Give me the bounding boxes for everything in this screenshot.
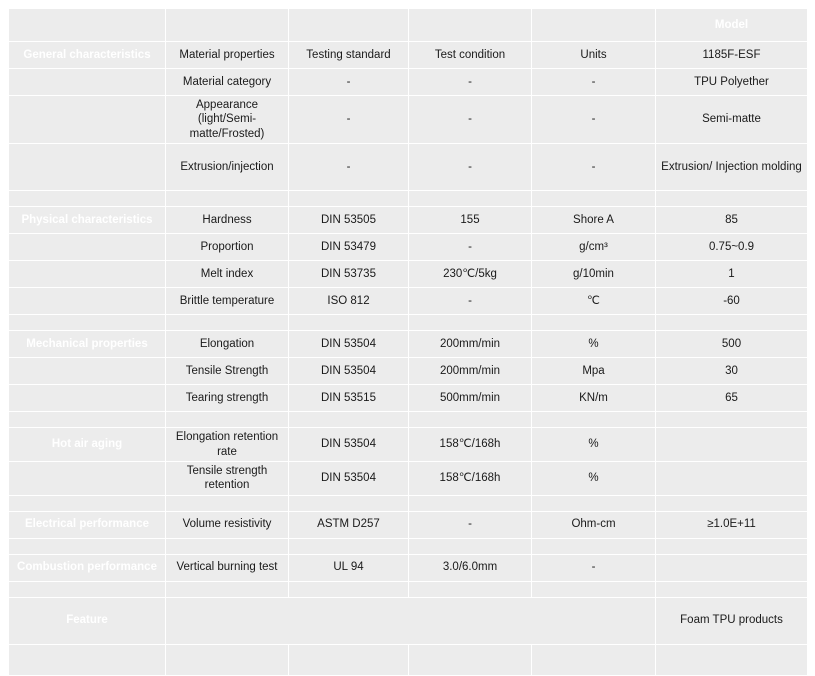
section-spacer-cell [9,144,165,190]
testing-standard: DIN 53515 [289,385,408,411]
column-header-material-properties: Material properties [166,42,288,68]
table-row: Combustion performance Vertical burning … [9,555,807,581]
model-value: 0.75~0.9 [656,234,807,260]
model-value-1185f-esf: 1185F-ESF [656,42,807,68]
model-value: 1 [656,261,807,287]
table-row: Melt index DIN 53735 230℃/5kg g/10min 1 [9,261,807,287]
test-condition: 230℃/5kg [409,261,531,287]
test-condition: 200mm/min [409,331,531,357]
units: - [532,69,655,95]
testing-standard: - [289,69,408,95]
blank-cell [9,9,165,41]
bottom-filler-row [9,645,807,675]
test-condition: 158℃/168h [409,462,531,495]
gap-cell [409,582,531,597]
table-row: Hot air aging Elongation retention rate … [9,428,807,461]
model-value [656,462,807,495]
gap-cell [409,412,531,427]
test-condition: - [409,144,531,190]
test-condition: - [409,512,531,538]
gap-cell [656,582,807,597]
property-name: Appearance (light/Semi-matte/Frosted) [166,96,288,143]
table-row: Proportion DIN 53479 - g/cm³ 0.75~0.9 [9,234,807,260]
units: % [532,462,655,495]
gap-cell [532,582,655,597]
model-column-header: Model [656,9,807,41]
gap-cell [532,539,655,554]
gap-cell [289,191,408,206]
gap-cell [656,496,807,511]
gap-cell [656,412,807,427]
gap-cell [289,412,408,427]
model-header-row: Model [9,9,807,41]
section-spacer-cell [9,234,165,260]
section-header-mechanical-properties: Mechanical properties [9,331,165,357]
test-condition: 200mm/min [409,358,531,384]
gap-cell [289,315,408,330]
gap-cell [656,315,807,330]
blank-cell [289,645,408,675]
gap-cell [409,315,531,330]
feature-empty-cell [166,598,655,644]
property-name: Tensile Strength [166,358,288,384]
model-value: 30 [656,358,807,384]
units: KN/m [532,385,655,411]
test-condition: 155 [409,207,531,233]
gap-cell [532,496,655,511]
gap-cell [409,496,531,511]
testing-standard: DIN 53505 [289,207,408,233]
section-spacer-cell [9,288,165,314]
table-row: Extrusion/injection - - - Extrusion/ Inj… [9,144,807,190]
gap-cell [9,496,165,511]
blank-cell [409,645,531,675]
units: - [532,555,655,581]
table-row: Mechanical properties Elongation DIN 535… [9,331,807,357]
testing-standard: ASTM D257 [289,512,408,538]
model-value: 500 [656,331,807,357]
test-condition: - [409,288,531,314]
property-name: Tearing strength [166,385,288,411]
section-header-feature: Feature [9,598,165,644]
section-header-combustion-performance: Combustion performance [9,555,165,581]
blank-cell [532,645,655,675]
testing-standard: - [289,144,408,190]
testing-standard: DIN 53735 [289,261,408,287]
column-header-row: General characteristics Material propert… [9,42,807,68]
units: % [532,428,655,461]
test-condition: 500mm/min [409,385,531,411]
gap-cell [656,539,807,554]
material-spec-table: Model General characteristics Material p… [8,8,808,676]
units: - [532,96,655,143]
gap-cell [9,315,165,330]
model-value: 85 [656,207,807,233]
feature-row: Feature Foam TPU products [9,598,807,644]
test-condition: - [409,69,531,95]
section-header-general-characteristics: General characteristics [9,42,165,68]
gap-cell [656,191,807,206]
section-header-physical-characteristics: Physical characteristics [9,207,165,233]
testing-standard: - [289,96,408,143]
model-value [656,555,807,581]
table-row: Tensile strength retention DIN 53504 158… [9,462,807,495]
test-condition: 158℃/168h [409,428,531,461]
gap-cell [9,412,165,427]
spec-sheet: Model General characteristics Material p… [0,0,815,646]
units: Ohm-cm [532,512,655,538]
gap-cell [9,582,165,597]
units: Mpa [532,358,655,384]
model-value: ≥1.0E+11 [656,512,807,538]
column-header-testing-standard: Testing standard [289,42,408,68]
section-gap [9,496,807,511]
property-name: Elongation retention rate [166,428,288,461]
gap-cell [289,539,408,554]
model-value [656,428,807,461]
gap-cell [532,191,655,206]
units: g/cm³ [532,234,655,260]
testing-standard: DIN 53479 [289,234,408,260]
section-gap [9,191,807,206]
blank-cell [656,645,807,675]
table-row: Tearing strength DIN 53515 500mm/min KN/… [9,385,807,411]
section-gap [9,315,807,330]
units: Shore A [532,207,655,233]
gap-cell [166,412,288,427]
column-header-units: Units [532,42,655,68]
section-gap [9,582,807,597]
property-name: Proportion [166,234,288,260]
table-row: Material category - - - TPU Polyether [9,69,807,95]
testing-standard: DIN 53504 [289,331,408,357]
blank-cell [532,9,655,41]
model-value: TPU Polyether [656,69,807,95]
property-name: Tensile strength retention [166,462,288,495]
gap-cell [9,539,165,554]
blank-cell [289,9,408,41]
gap-cell [166,191,288,206]
property-name: Volume resistivity [166,512,288,538]
gap-cell [409,539,531,554]
gap-cell [532,412,655,427]
table-row: Appearance (light/Semi-matte/Frosted) - … [9,96,807,143]
gap-cell [409,191,531,206]
model-value: Semi-matte [656,96,807,143]
gap-cell [289,582,408,597]
gap-cell [9,191,165,206]
property-name: Brittle temperature [166,288,288,314]
units: ℃ [532,288,655,314]
blank-cell [409,9,531,41]
section-spacer-cell [9,462,165,495]
table-row: Tensile Strength DIN 53504 200mm/min Mpa… [9,358,807,384]
test-condition: - [409,234,531,260]
testing-standard: DIN 53504 [289,358,408,384]
model-value: -60 [656,288,807,314]
gap-cell [166,539,288,554]
section-spacer-cell [9,261,165,287]
property-name: Extrusion/injection [166,144,288,190]
gap-cell [166,582,288,597]
testing-standard: DIN 53504 [289,462,408,495]
section-header-electrical-performance: Electrical performance [9,512,165,538]
table-row: Physical characteristics Hardness DIN 53… [9,207,807,233]
blank-cell [9,645,165,675]
property-name: Vertical burning test [166,555,288,581]
section-header-hot-air-aging: Hot air aging [9,428,165,461]
gap-cell [289,496,408,511]
section-spacer-cell [9,96,165,143]
model-value: 65 [656,385,807,411]
gap-cell [166,496,288,511]
section-gap [9,539,807,554]
feature-value: Foam TPU products [656,598,807,644]
property-name: Elongation [166,331,288,357]
property-name: Hardness [166,207,288,233]
units: - [532,144,655,190]
blank-cell [166,9,288,41]
section-gap [9,412,807,427]
property-name: Material category [166,69,288,95]
blank-cell [166,645,288,675]
column-header-test-condition: Test condition [409,42,531,68]
testing-standard: DIN 53504 [289,428,408,461]
gap-cell [532,315,655,330]
units: % [532,331,655,357]
table-row: Electrical performance Volume resistivit… [9,512,807,538]
units: g/10min [532,261,655,287]
model-value: Extrusion/ Injection molding [656,144,807,190]
section-spacer-cell [9,69,165,95]
property-name: Melt index [166,261,288,287]
table-row: Brittle temperature ISO 812 - ℃ -60 [9,288,807,314]
testing-standard: ISO 812 [289,288,408,314]
gap-cell [166,315,288,330]
testing-standard: UL 94 [289,555,408,581]
section-spacer-cell [9,358,165,384]
test-condition: 3.0/6.0mm [409,555,531,581]
test-condition: - [409,96,531,143]
section-spacer-cell [9,385,165,411]
